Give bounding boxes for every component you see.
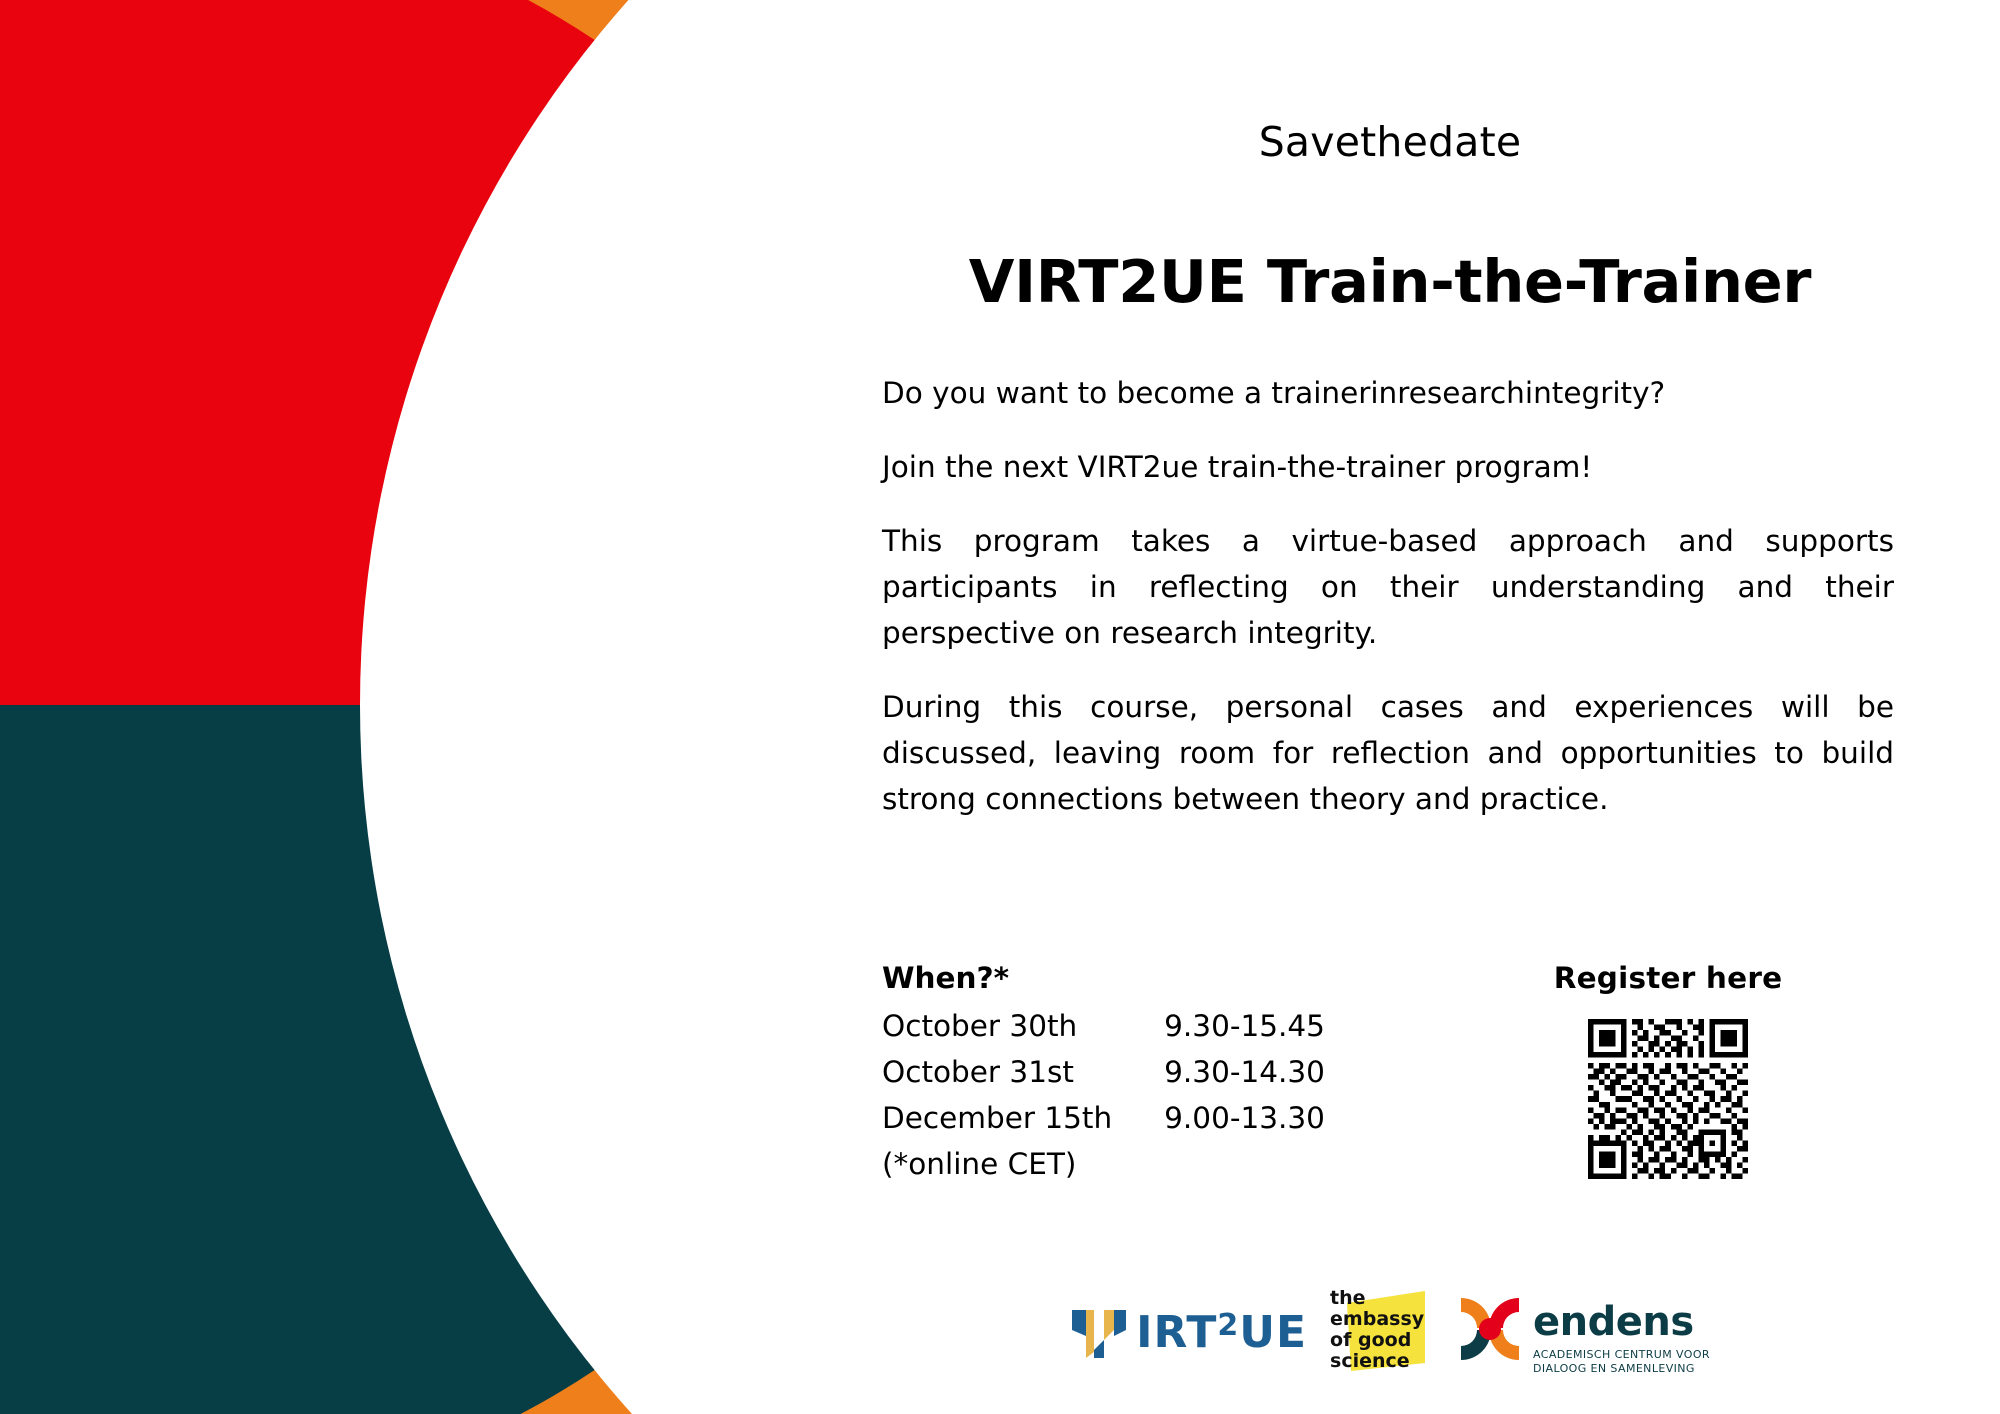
xendens-subtitle-line-1: ACADEMISCH CENTRUM VOOR [1533,1348,1710,1362]
timezone-note: (*online CET) [882,1141,1442,1187]
body-copy: Do you want to become a trainerinresearc… [882,370,1894,822]
xendens-subtitle: ACADEMISCH CENTRUM VOOR DIALOOG EN SAMEN… [1533,1348,1710,1376]
virt2ue-superscript: 2 [1217,1308,1239,1343]
embassy-line-3: of good [1330,1330,1429,1351]
virt2ue-wordmark: IRT2UE [1136,1311,1307,1355]
paragraph-intro-question: Do you want to become a trainerinresearc… [882,370,1894,416]
embassy-line-4: science [1330,1351,1429,1372]
embassy-line-1: the [1330,1288,1429,1309]
embassy-of-good-science-logo: the embassy of good science [1329,1285,1429,1381]
schedule-date: October 31st [882,1049,1164,1095]
virt2ue-word-tail: UE [1239,1307,1307,1358]
register-section: Register here [1442,955,1894,1179]
when-heading: When?* [882,955,1442,1001]
table-row: October 30th 9.30-15.45 [882,1003,1325,1049]
schedule-time: 9.30-15.45 [1164,1003,1325,1049]
when-section: When?* October 30th 9.30-15.45 October 3… [882,955,1442,1187]
page-title: VIRT2UE Train-the-Trainer [880,252,1900,311]
xendens-x-mark-icon [1451,1290,1529,1368]
registration-qr-code[interactable] [1588,1019,1748,1179]
table-row: October 31st 9.30-14.30 [882,1049,1325,1095]
xendens-wordmark: endens ACADEMISCH CENTRUM VOOR DIALOOG E… [1533,1290,1710,1376]
footer-logos: IRT2UE the embassy of good science [880,1285,1900,1381]
schedule-date: December 15th [882,1095,1164,1141]
schedule-time: 9.00-13.30 [1164,1095,1325,1141]
qr-code-wrapper[interactable] [1442,1019,1894,1179]
virt2ue-v-mark-icon [1070,1306,1130,1360]
xendens-subtitle-line-2: DIALOOG EN SAMENLEVING [1533,1362,1710,1376]
register-heading: Register here [1442,955,1894,1001]
poster-canvas: Savethedate VIRT2UE Train-the-Trainer Do… [0,0,2000,1414]
content-column: Savethedate VIRT2UE Train-the-Trainer Do… [880,0,1900,1414]
xendens-word: endens [1533,1302,1710,1342]
paragraph-program-description: This program takes a virtue-based approa… [882,518,1894,656]
virt2ue-word-head: IRT [1136,1307,1217,1358]
paragraph-course-description: During this course, personal cases and e… [882,684,1894,822]
table-row: December 15th 9.00-13.30 [882,1095,1325,1141]
schedule-and-registration: When?* October 30th 9.30-15.45 October 3… [882,955,1894,1187]
xendens-logo: endens ACADEMISCH CENTRUM VOOR DIALOOG E… [1451,1290,1710,1376]
virt2ue-logo: IRT2UE [1070,1306,1307,1360]
eyebrow-savethedate: Savethedate [880,122,1900,163]
schedule-time: 9.30-14.30 [1164,1049,1325,1095]
red-tint-rect [290,140,620,700]
paragraph-join-next: Join the next VIRT2ue train-the-trainer … [882,444,1894,490]
schedule-table: October 30th 9.30-15.45 October 31st 9.3… [882,1003,1325,1141]
embassy-line-2: embassy [1330,1309,1429,1330]
schedule-date: October 30th [882,1003,1164,1049]
embassy-wordmark: the embassy of good science [1329,1285,1429,1372]
